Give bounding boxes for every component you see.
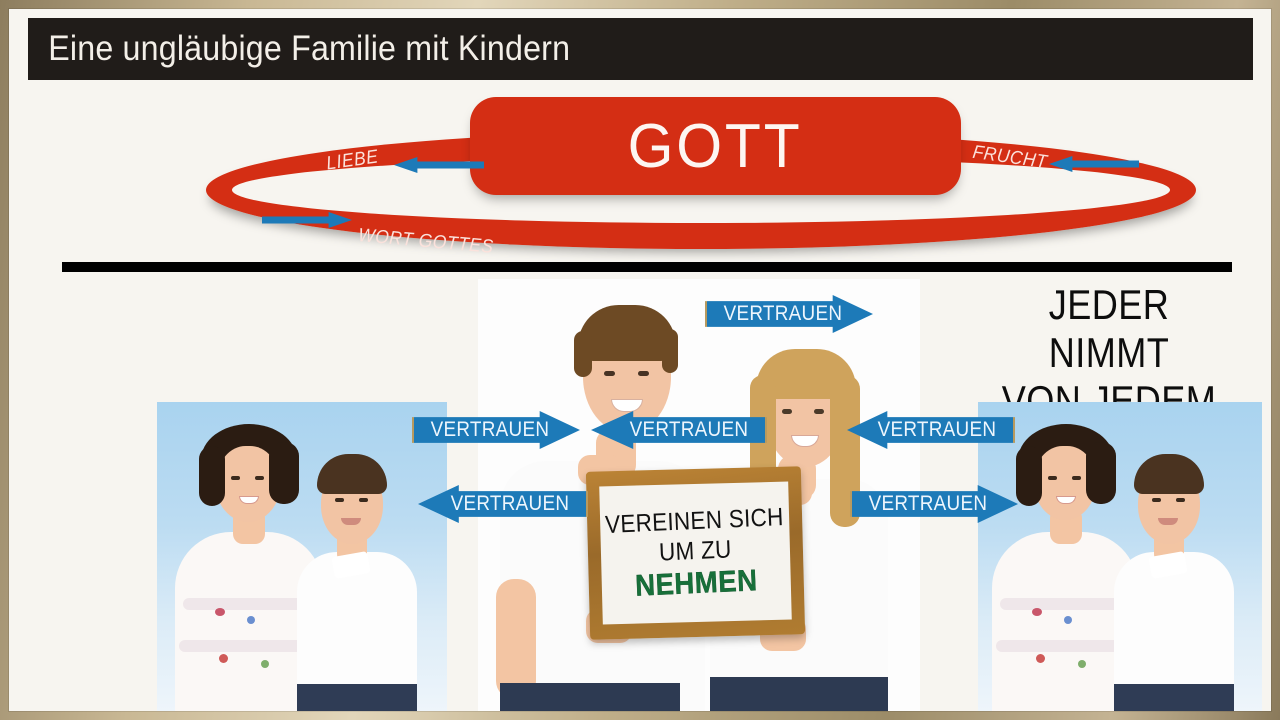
trust-arrow-label: VERTRAUEN [724, 302, 843, 326]
trust-arrow-label: VERTRAUEN [878, 418, 997, 442]
trust-arrow-label: VERTRAUEN [630, 418, 749, 442]
sign-line-2: UM ZU [659, 535, 733, 567]
gott-node-label: GOTT [628, 111, 803, 182]
photo-children-right [978, 402, 1262, 711]
gott-node[interactable]: GOTT [470, 97, 961, 195]
sign-face: VEREINEN SICH UM ZU NEHMEN [599, 482, 792, 625]
god-cycle-diagram: GOTT LIEBE WORT GOTTES FRUCHT [9, 9, 1271, 269]
horizontal-divider [62, 262, 1232, 272]
trust-arrow-label: VERTRAUEN [431, 418, 550, 442]
sign-line-3-nehmen: NEHMEN [634, 564, 758, 603]
slide-canvas: Eine ungläubige Familie mit Kindern GOTT… [9, 9, 1271, 711]
wooden-sign: VEREINEN SICH UM ZU NEHMEN [586, 466, 805, 640]
heading-line-1: JEDER NIMMT [984, 281, 1233, 377]
trust-arrow-label: VERTRAUEN [869, 492, 988, 516]
trust-arrow-label: VERTRAUEN [451, 492, 570, 516]
photo-children-left [157, 402, 447, 711]
sign-line-1: VEREINEN SICH [605, 503, 785, 540]
